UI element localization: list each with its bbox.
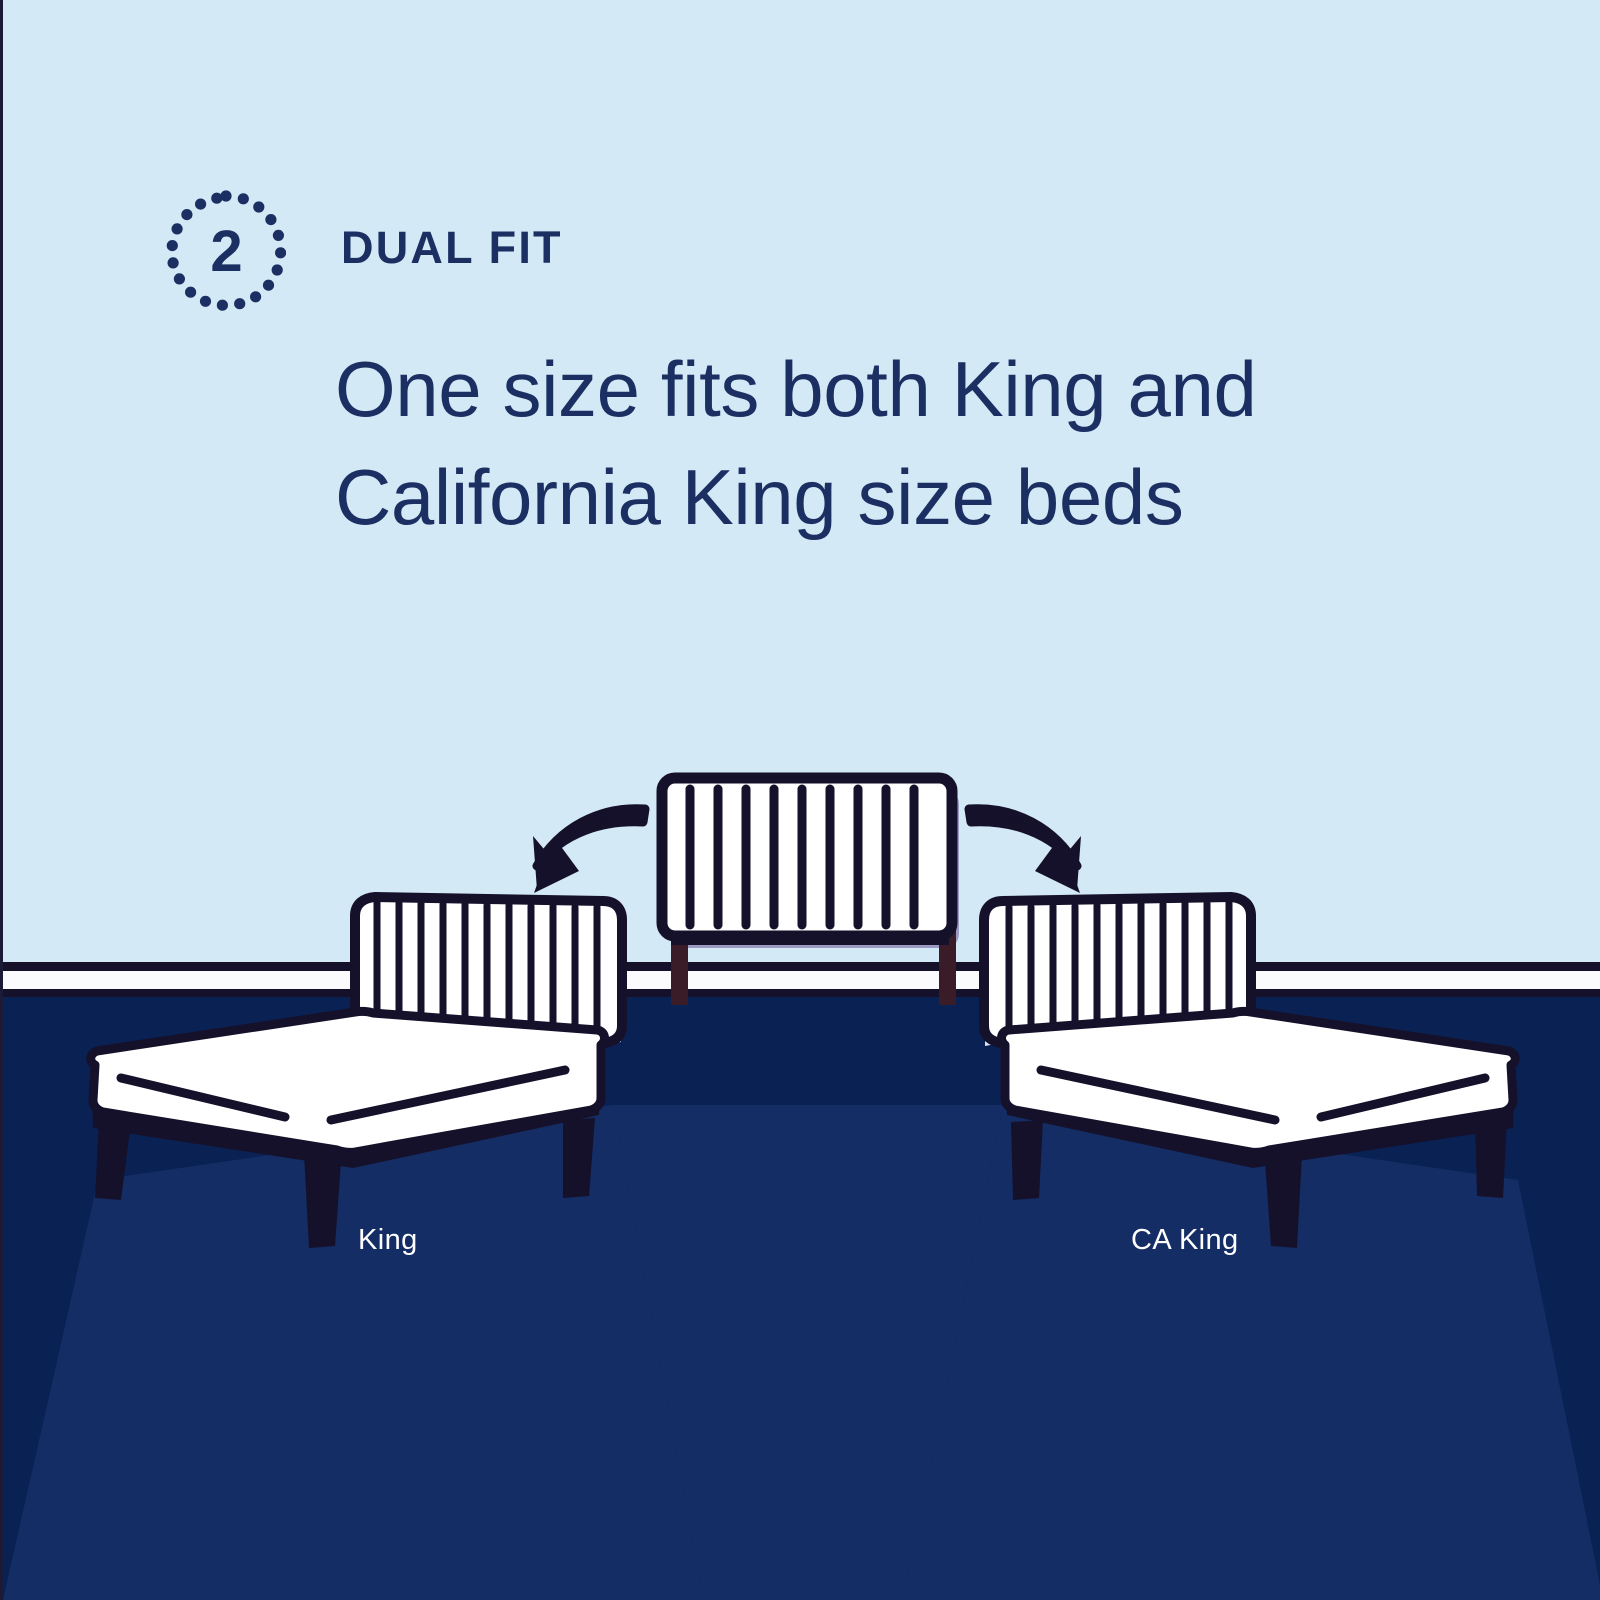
king-bed bbox=[91, 897, 622, 1248]
dual-fit-infographic: 2 DUAL FIT One size fits both King and C… bbox=[0, 0, 1600, 1600]
bed-label-ca-king: CA King bbox=[1131, 1224, 1239, 1257]
ca-king-bed bbox=[984, 897, 1515, 1248]
bed-label-king: King bbox=[358, 1224, 418, 1257]
bed-illustration bbox=[3, 0, 1600, 1600]
arrow-to-ca-king bbox=[969, 809, 1081, 893]
universal-headboard bbox=[662, 778, 959, 1005]
arrow-to-king bbox=[533, 809, 645, 893]
